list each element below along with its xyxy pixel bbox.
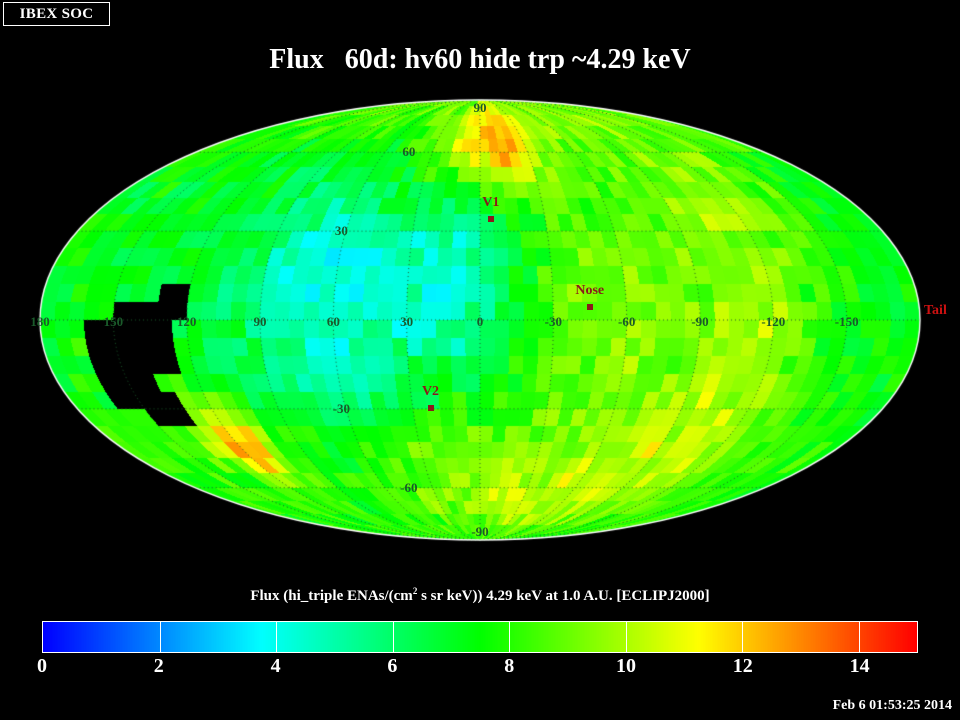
sky-map-canvas	[30, 95, 930, 545]
page-title: Flux 60d: hv60 hide trp ~4.29 keV	[0, 44, 960, 76]
colorbar-separator	[859, 622, 860, 652]
colorbar-separator	[742, 622, 743, 652]
colorbar-tick-2: 2	[154, 655, 164, 678]
ibex-soc-label: IBEX SOC	[20, 7, 94, 22]
colorbar-tick-4: 4	[271, 655, 281, 678]
ibex-soc-badge: IBEX SOC	[3, 2, 110, 26]
colorbar-separator	[276, 622, 277, 652]
colorbar-separator	[509, 622, 510, 652]
colorbar-tick-12: 12	[733, 655, 753, 678]
colorbar-separator	[626, 622, 627, 652]
colorbar-tick-6: 6	[387, 655, 397, 678]
colorbar-gradient	[43, 622, 917, 652]
colorbar-caption-post: s sr keV)) 4.29 keV at 1.0 A.U. [ECLIPJ2…	[417, 588, 709, 604]
colorbar-tick-labels: 02468101214	[42, 655, 918, 681]
ibex-skymap-window: IBEX SOC Flux 60d: hv60 hide trp ~4.29 k…	[0, 0, 960, 720]
colorbar-tick-8: 8	[504, 655, 514, 678]
colorbar-tick-10: 10	[616, 655, 636, 678]
colorbar-separator	[160, 622, 161, 652]
sky-map: 60300-30-60-90-120-15018015012090906030-…	[30, 95, 930, 545]
colorbar-tick-14: 14	[850, 655, 870, 678]
colorbar-caption: Flux (hi_triple ENAs/(cm2 s sr keV)) 4.2…	[0, 586, 960, 605]
colorbar-tick-0: 0	[37, 655, 47, 678]
colorbar-separator	[393, 622, 394, 652]
timestamp: Feb 6 01:53:25 2014	[833, 698, 952, 714]
colorbar	[42, 621, 918, 653]
colorbar-caption-pre: Flux (hi_triple ENAs/(cm	[250, 588, 413, 604]
